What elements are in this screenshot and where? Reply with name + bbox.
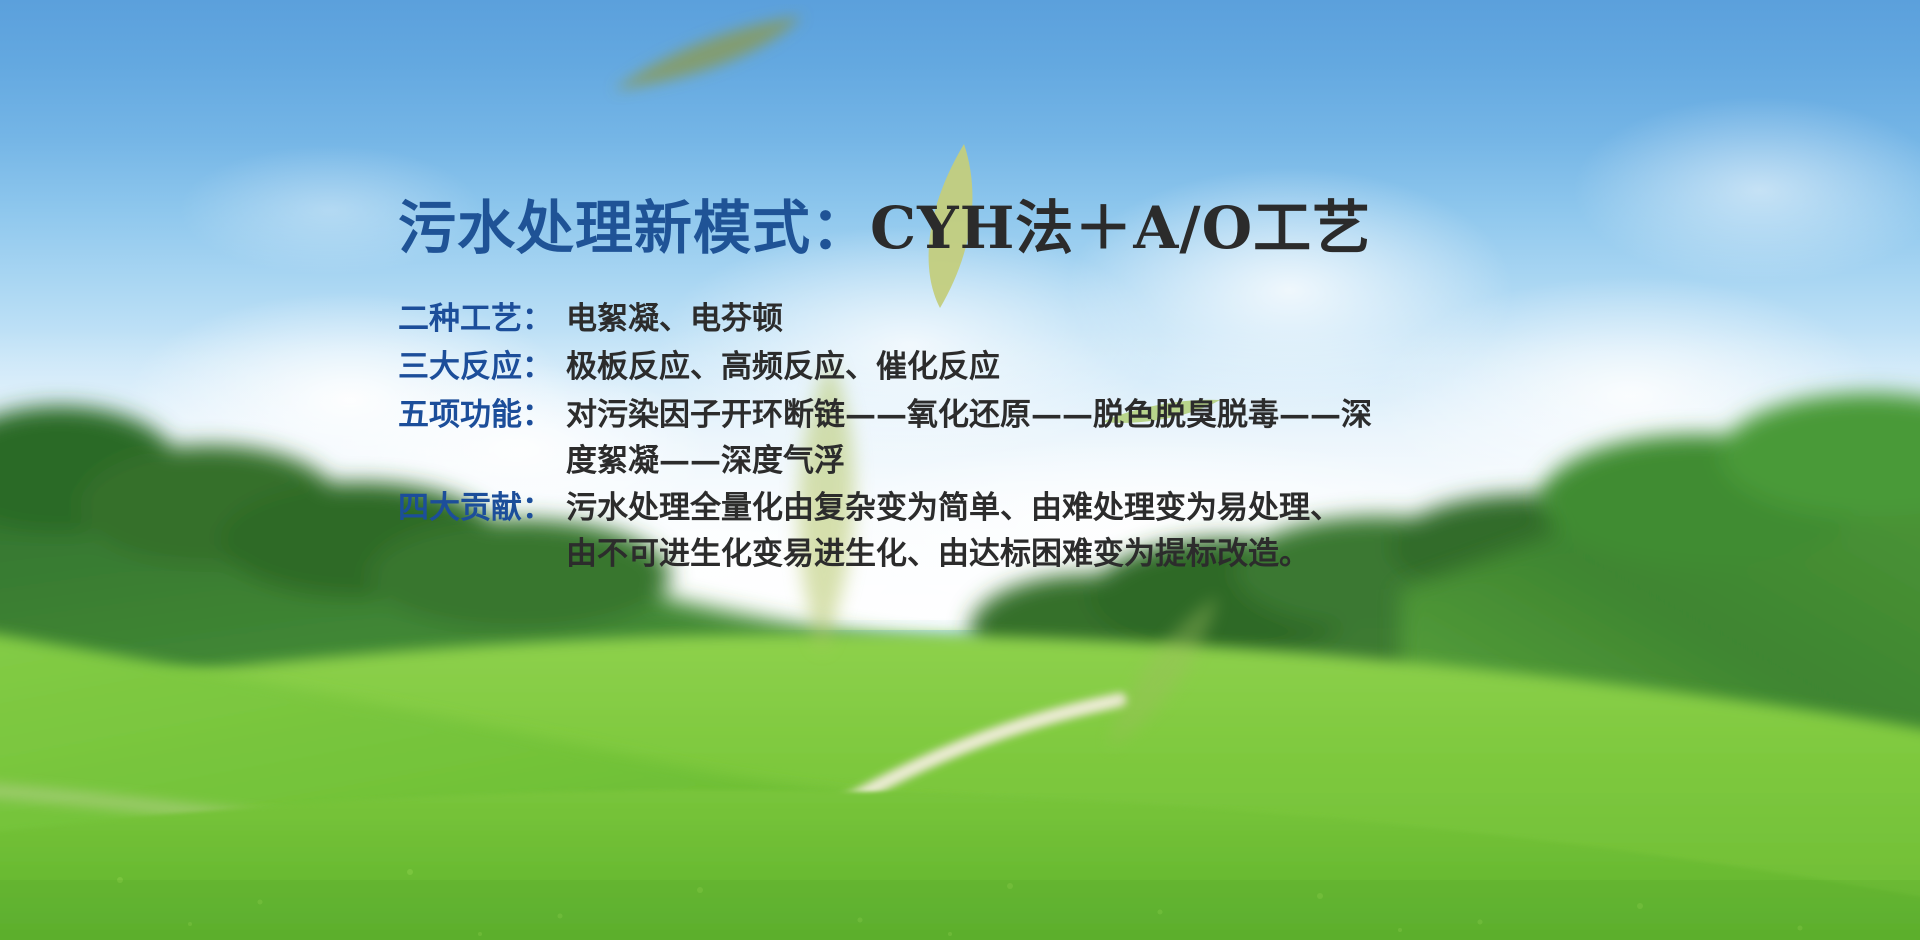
bullet-label: 四大贡献： (398, 486, 566, 532)
bullet-row: 五项功能： 对污染因子开环断链——氧化还原——脱色脱臭脱毒——深 度絮凝——深度… (398, 393, 1518, 485)
slide-title: 污水处理新模式：CYH法＋A/O工艺 (398, 196, 1518, 261)
slide-content: 污水处理新模式：CYH法＋A/O工艺 二种工艺： 电絮凝、电芬顿 三大反应： 极… (398, 196, 1518, 580)
bullet-line: 污水处理全量化由复杂变为简单、由难处理变为易处理、 (566, 486, 1518, 532)
bullet-label: 五项功能： (398, 393, 566, 439)
bullet-row: 三大反应： 极板反应、高频反应、催化反应 (398, 345, 1518, 391)
bullet-value: 极板反应、高频反应、催化反应 (566, 345, 1518, 391)
bullet-line: 电絮凝、电芬顿 (566, 297, 1518, 343)
bullet-line: 对污染因子开环断链——氧化还原——脱色脱臭脱毒——深 (566, 393, 1518, 439)
bullet-row: 四大贡献： 污水处理全量化由复杂变为简单、由难处理变为易处理、 由不可进生化变易… (398, 486, 1518, 578)
bullet-line: 度絮凝——深度气浮 (566, 439, 1518, 485)
bullet-row: 二种工艺： 电絮凝、电芬顿 (398, 297, 1518, 343)
bullet-line: 极板反应、高频反应、催化反应 (566, 345, 1518, 391)
bullet-line: 由不可进生化变易进生化、由达标困难变为提标改造。 (566, 532, 1518, 578)
bullet-label: 三大反应： (398, 345, 566, 391)
title-highlight: 污水处理新模式： (398, 194, 870, 262)
bullet-list: 二种工艺： 电絮凝、电芬顿 三大反应： 极板反应、高频反应、催化反应 五项功能：… (398, 297, 1518, 578)
slide-canvas: 污水处理新模式：CYH法＋A/O工艺 二种工艺： 电絮凝、电芬顿 三大反应： 极… (0, 0, 1920, 940)
bullet-label: 二种工艺： (398, 297, 566, 343)
title-rest: CYH法＋A/O工艺 (870, 194, 1371, 262)
bullet-value: 污水处理全量化由复杂变为简单、由难处理变为易处理、 由不可进生化变易进生化、由达… (566, 486, 1518, 578)
bullet-value: 对污染因子开环断链——氧化还原——脱色脱臭脱毒——深 度絮凝——深度气浮 (566, 393, 1518, 485)
bullet-value: 电絮凝、电芬顿 (566, 297, 1518, 343)
